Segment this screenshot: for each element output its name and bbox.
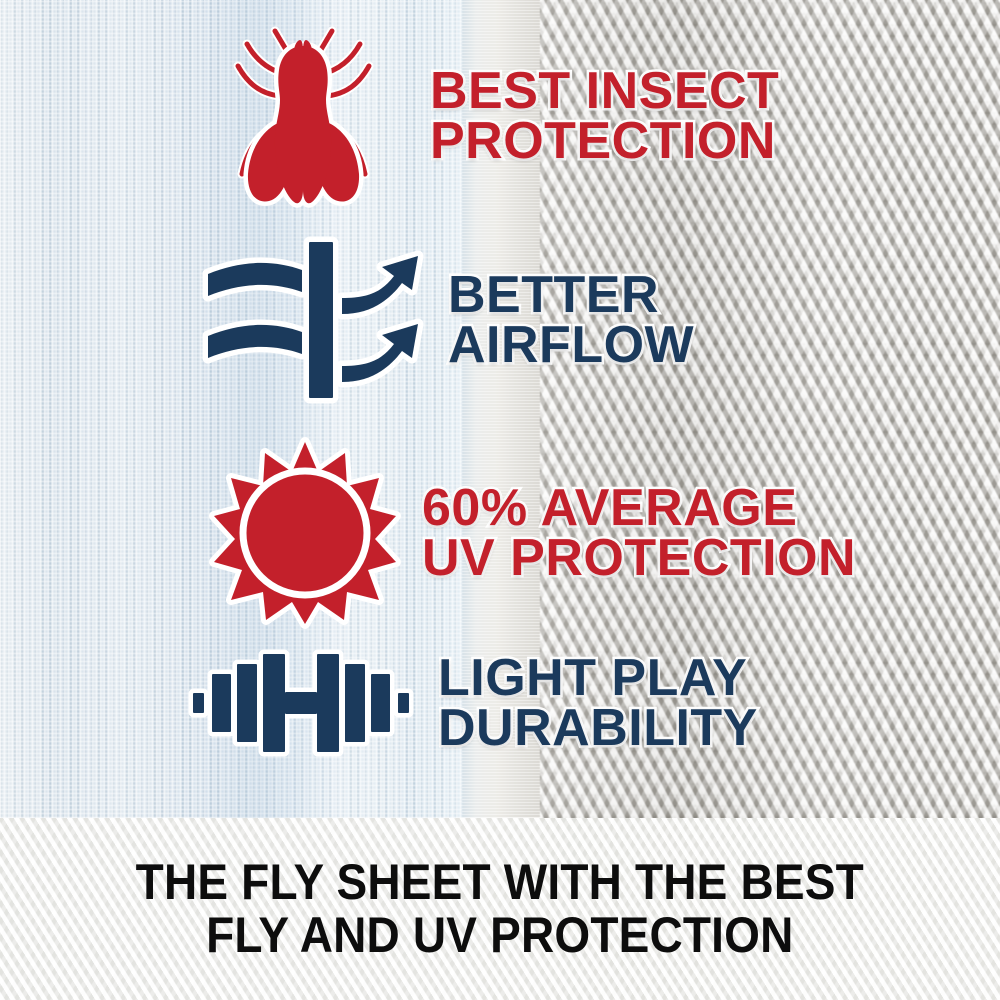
fly-icon xyxy=(228,22,378,210)
feature-item-insect: BEST INSECT PROTECTION xyxy=(228,22,779,210)
feature-label-airflow: BETTER AIRFLOW xyxy=(448,270,694,371)
airflow-icon xyxy=(196,240,422,400)
feature-list: BEST INSECT PROTECTION xyxy=(0,0,1000,818)
banner-headline: THE FLY SHEET WITH THE BEST FLY AND UV P… xyxy=(136,856,864,962)
dumbbell-icon xyxy=(190,648,412,758)
feature-label-insect: BEST INSECT PROTECTION xyxy=(430,66,779,167)
infographic-root: BEST INSECT PROTECTION xyxy=(0,0,1000,1000)
sun-icon xyxy=(212,440,398,626)
feature-item-durability: LIGHT PLAY DURABILITY xyxy=(190,648,758,758)
feature-item-airflow: BETTER AIRFLOW xyxy=(196,240,694,400)
feature-label-durability: LIGHT PLAY DURABILITY xyxy=(438,653,758,754)
feature-label-uv: 60% AVERAGE UV PROTECTION xyxy=(422,483,856,584)
bottom-banner: THE FLY SHEET WITH THE BEST FLY AND UV P… xyxy=(0,818,1000,1000)
feature-item-uv: 60% AVERAGE UV PROTECTION xyxy=(212,440,856,626)
